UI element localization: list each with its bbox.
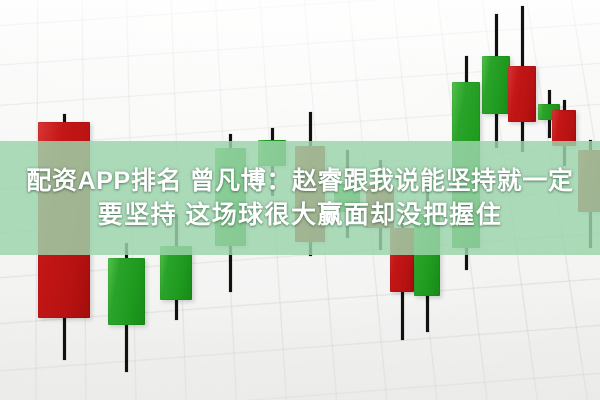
screenshot-canvas: 配资APP排名 曾凡博：赵睿跟我说能坚持就一定 要坚持 这场球很大赢面却没把握住 bbox=[0, 0, 600, 400]
candle-body bbox=[482, 56, 510, 114]
candle-body bbox=[508, 66, 536, 122]
candle-body bbox=[108, 258, 145, 325]
headline-band bbox=[0, 141, 600, 255]
